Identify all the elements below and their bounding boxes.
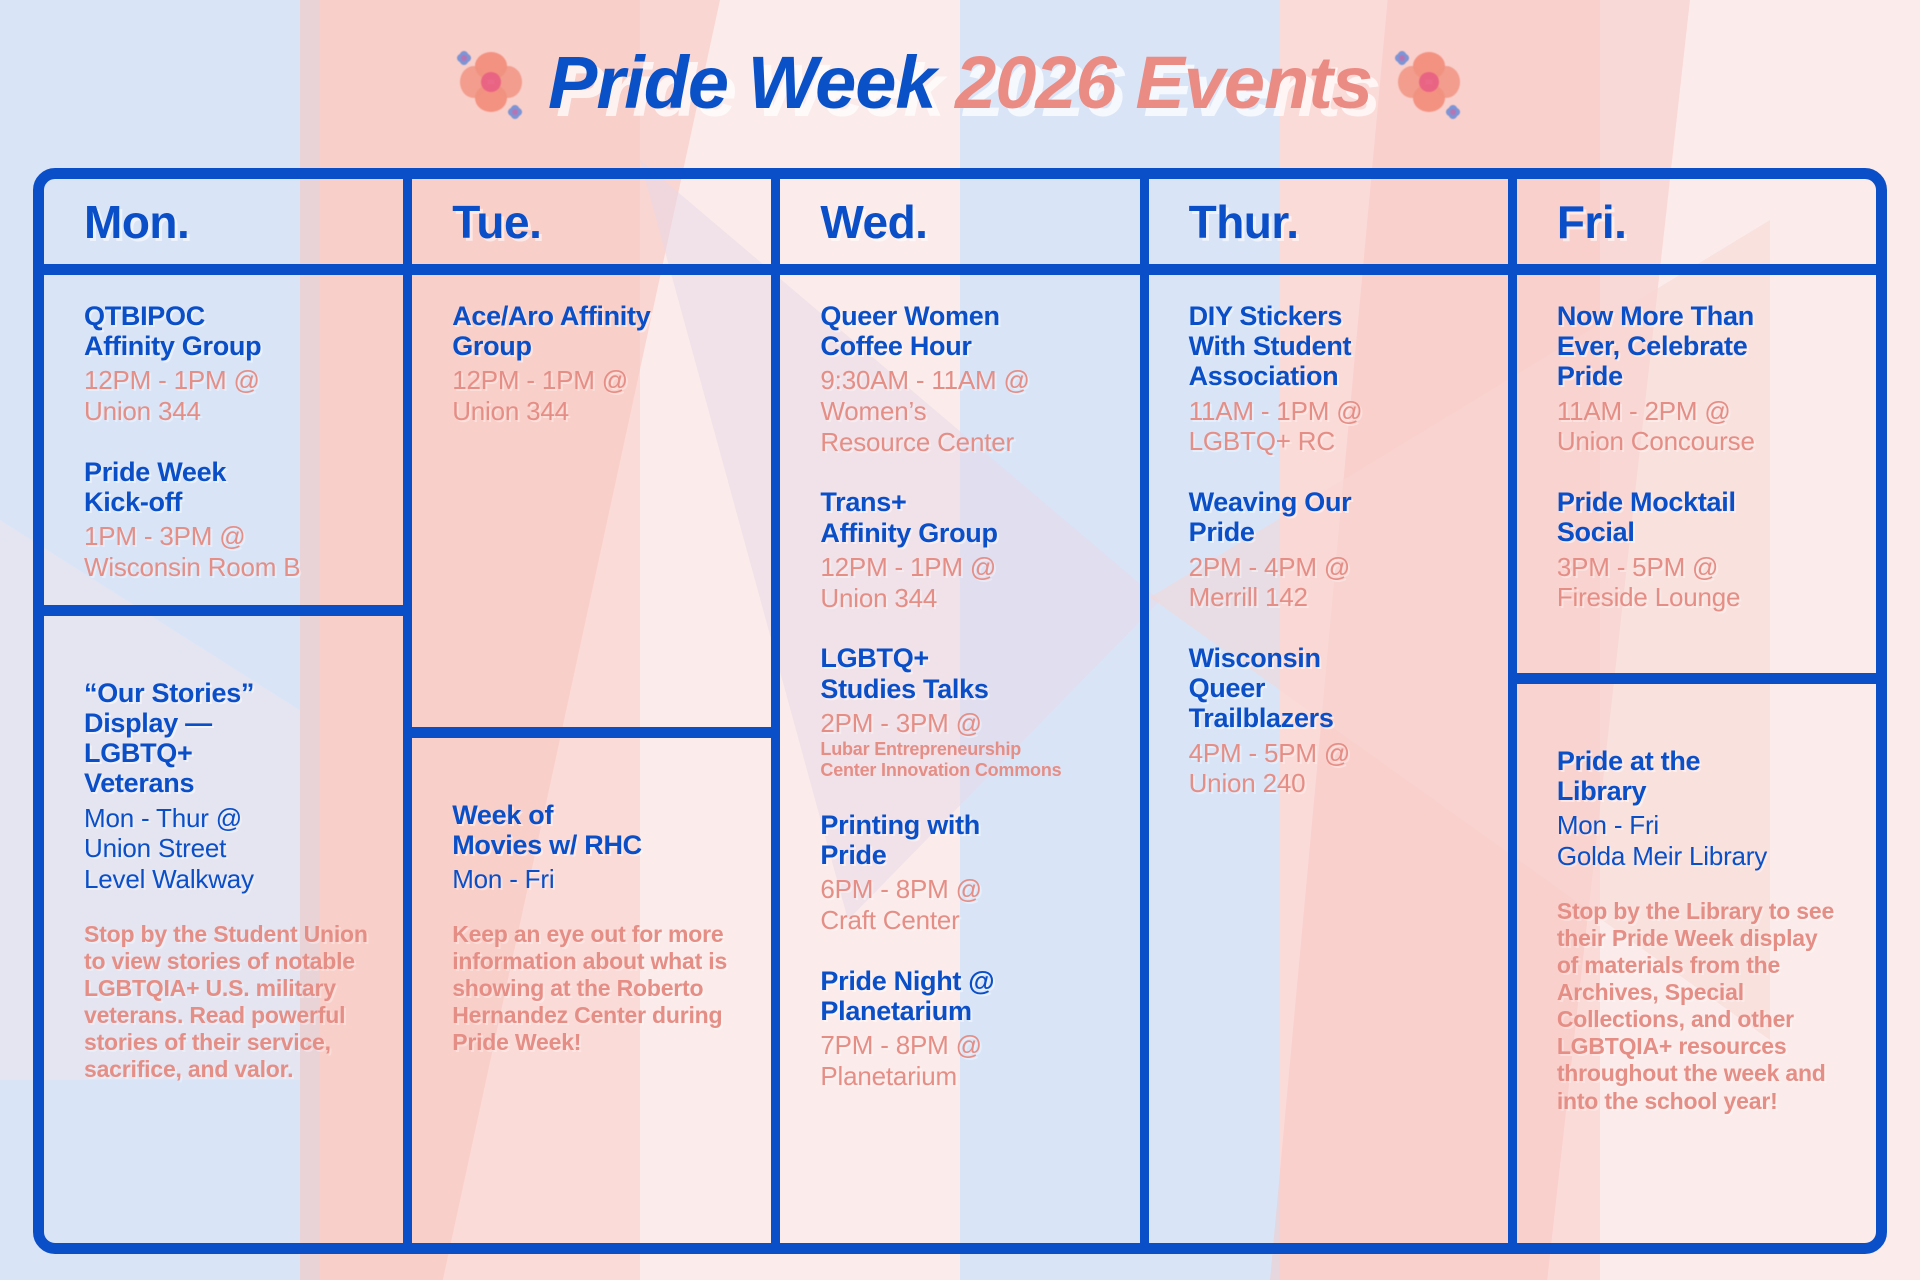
event-title: WisconsinQueerTrailblazers bbox=[1189, 643, 1474, 734]
event-location-detail: Lubar EntrepreneurshipCenter Innovation … bbox=[820, 739, 1105, 779]
event-time-location: 12PM - 1PM @Union 344 bbox=[452, 365, 737, 426]
day-header-label: Thur. bbox=[1189, 195, 1299, 249]
event-card[interactable]: Trans+Affinity Group12PM - 1PM @Union 34… bbox=[820, 487, 1105, 613]
event-time-location: 6PM - 8PM @Craft Center bbox=[820, 874, 1105, 935]
event-card[interactable]: Printing withPride6PM - 8PM @Craft Cente… bbox=[820, 810, 1105, 936]
day-column-mon: QTBIPOCAffinity Group12PM - 1PM @Union 3… bbox=[44, 275, 412, 1243]
title-part-year-events: 2026 Events bbox=[955, 41, 1372, 124]
event-time-location: 11AM - 1PM @LGBTQ+ RC bbox=[1189, 396, 1474, 457]
day-header-label: Wed. bbox=[820, 195, 927, 249]
event-time-location: Mon - Thur @Union StreetLevel Walkway bbox=[84, 803, 369, 895]
title-part-pride-week: Pride Week bbox=[548, 41, 955, 124]
event-time-location: 4PM - 5PM @Union 240 bbox=[1189, 738, 1474, 799]
calendar-header-row: Mon.Tue.Wed.Thur.Fri. bbox=[44, 179, 1876, 275]
day-column-thur: DIY StickersWith StudentAssociation11AM … bbox=[1149, 275, 1517, 1243]
event-card[interactable]: Pride Night @Planetarium7PM - 8PM @Plane… bbox=[820, 966, 1105, 1092]
event-title: Weaving OurPride bbox=[1189, 487, 1474, 547]
event-title: Pride MocktailSocial bbox=[1557, 487, 1842, 547]
calendar-body-row: QTBIPOCAffinity Group12PM - 1PM @Union 3… bbox=[44, 275, 1876, 1243]
event-card[interactable]: DIY StickersWith StudentAssociation11AM … bbox=[1189, 301, 1474, 457]
event-time-location: 3PM - 5PM @Fireside Lounge bbox=[1557, 552, 1842, 613]
day-segment: Queer WomenCoffee Hour9:30AM - 11AM @Wom… bbox=[780, 275, 1139, 1101]
day-header-wed: Wed. bbox=[780, 179, 1148, 264]
event-card[interactable]: QTBIPOCAffinity Group12PM - 1PM @Union 3… bbox=[84, 301, 369, 427]
event-time-location: Mon - Fri bbox=[452, 864, 737, 895]
day-column-wed: Queer WomenCoffee Hour9:30AM - 11AM @Wom… bbox=[780, 275, 1148, 1243]
event-title: LGBTQ+Studies Talks bbox=[820, 643, 1105, 703]
day-header-label: Fri. bbox=[1557, 195, 1627, 249]
day-header-tue: Tue. bbox=[412, 179, 780, 264]
event-description: Keep an eye out for more information abo… bbox=[452, 921, 737, 1057]
event-card[interactable]: Pride MocktailSocial3PM - 5PM @Fireside … bbox=[1557, 487, 1842, 613]
day-segment: “Our Stories”Display —LGBTQ+VeteransMon … bbox=[44, 652, 403, 1094]
event-card[interactable]: Pride WeekKick-off1PM - 3PM @Wisconsin R… bbox=[84, 457, 369, 583]
day-segment: DIY StickersWith StudentAssociation11AM … bbox=[1149, 275, 1508, 809]
event-title: Week ofMovies w/ RHC bbox=[452, 800, 737, 860]
event-card[interactable]: Weaving OurPride2PM - 4PM @Merrill 142 bbox=[1189, 487, 1474, 613]
day-segment: Now More ThanEver, CelebratePride11AM - … bbox=[1517, 275, 1876, 684]
column-spacer bbox=[412, 738, 771, 774]
page-title: Pride Week 2026 Events bbox=[548, 40, 1372, 125]
page-title-bar: Pride Week 2026 Events bbox=[0, 0, 1920, 165]
event-card[interactable]: LGBTQ+Studies Talks2PM - 3PM @Lubar Entr… bbox=[820, 643, 1105, 779]
event-time-location: 2PM - 3PM @ bbox=[820, 708, 1105, 739]
event-title: Ace/Aro AffinityGroup bbox=[452, 301, 737, 361]
day-header-fri: Fri. bbox=[1517, 179, 1876, 264]
event-title: “Our Stories”Display —LGBTQ+Veterans bbox=[84, 678, 369, 799]
event-card[interactable]: Queer WomenCoffee Hour9:30AM - 11AM @Wom… bbox=[820, 301, 1105, 457]
flower-icon-left bbox=[452, 42, 530, 124]
event-title: Now More ThanEver, CelebratePride bbox=[1557, 301, 1842, 392]
event-title: Trans+Affinity Group bbox=[820, 487, 1105, 547]
column-spacer bbox=[1517, 684, 1876, 720]
day-column-fri: Now More ThanEver, CelebratePride11AM - … bbox=[1517, 275, 1876, 1243]
flower-icon-right bbox=[1390, 42, 1468, 124]
day-segment: Pride at theLibraryMon - FriGolda Meir L… bbox=[1517, 720, 1876, 1125]
event-title: Pride at theLibrary bbox=[1557, 746, 1842, 806]
event-time-location: 11AM - 2PM @Union Concourse bbox=[1557, 396, 1842, 457]
day-segment: Week ofMovies w/ RHCMon - FriKeep an eye… bbox=[412, 774, 771, 1067]
event-time-location: 2PM - 4PM @Merrill 142 bbox=[1189, 552, 1474, 613]
event-description: Stop by the Library to see their Pride W… bbox=[1557, 898, 1842, 1115]
event-card[interactable]: Ace/Aro AffinityGroup12PM - 1PM @Union 3… bbox=[452, 301, 737, 427]
event-time-location: 7PM - 8PM @Planetarium bbox=[820, 1030, 1105, 1091]
day-segment: QTBIPOCAffinity Group12PM - 1PM @Union 3… bbox=[44, 275, 403, 616]
event-card[interactable]: “Our Stories”Display —LGBTQ+VeteransMon … bbox=[84, 678, 369, 1084]
event-title: DIY StickersWith StudentAssociation bbox=[1189, 301, 1474, 392]
event-title: Pride WeekKick-off bbox=[84, 457, 369, 517]
event-time-location: 12PM - 1PM @Union 344 bbox=[84, 365, 369, 426]
event-title: Printing withPride bbox=[820, 810, 1105, 870]
event-card[interactable]: Pride at theLibraryMon - FriGolda Meir L… bbox=[1557, 746, 1842, 1115]
event-card[interactable]: Now More ThanEver, CelebratePride11AM - … bbox=[1557, 301, 1842, 457]
event-time-location: Mon - FriGolda Meir Library bbox=[1557, 810, 1842, 871]
event-card[interactable]: Week ofMovies w/ RHCMon - FriKeep an eye… bbox=[452, 800, 737, 1057]
event-title: QTBIPOCAffinity Group bbox=[84, 301, 369, 361]
event-title: Queer WomenCoffee Hour bbox=[820, 301, 1105, 361]
day-segment: Ace/Aro AffinityGroup12PM - 1PM @Union 3… bbox=[412, 275, 771, 738]
event-time-location: 9:30AM - 11AM @Women’sResource Center bbox=[820, 365, 1105, 457]
events-calendar: Mon.Tue.Wed.Thur.Fri. QTBIPOCAffinity Gr… bbox=[33, 168, 1887, 1254]
day-column-tue: Ace/Aro AffinityGroup12PM - 1PM @Union 3… bbox=[412, 275, 780, 1243]
day-header-thur: Thur. bbox=[1149, 179, 1517, 264]
event-card[interactable]: WisconsinQueerTrailblazers4PM - 5PM @Uni… bbox=[1189, 643, 1474, 799]
event-time-location: 1PM - 3PM @Wisconsin Room B bbox=[84, 521, 369, 582]
day-header-label: Tue. bbox=[452, 195, 541, 249]
day-header-label: Mon. bbox=[84, 195, 189, 249]
event-time-location: 12PM - 1PM @Union 344 bbox=[820, 552, 1105, 613]
day-header-mon: Mon. bbox=[44, 179, 412, 264]
column-spacer bbox=[44, 616, 403, 652]
event-title: Pride Night @Planetarium bbox=[820, 966, 1105, 1026]
event-description: Stop by the Student Union to view storie… bbox=[84, 921, 369, 1084]
